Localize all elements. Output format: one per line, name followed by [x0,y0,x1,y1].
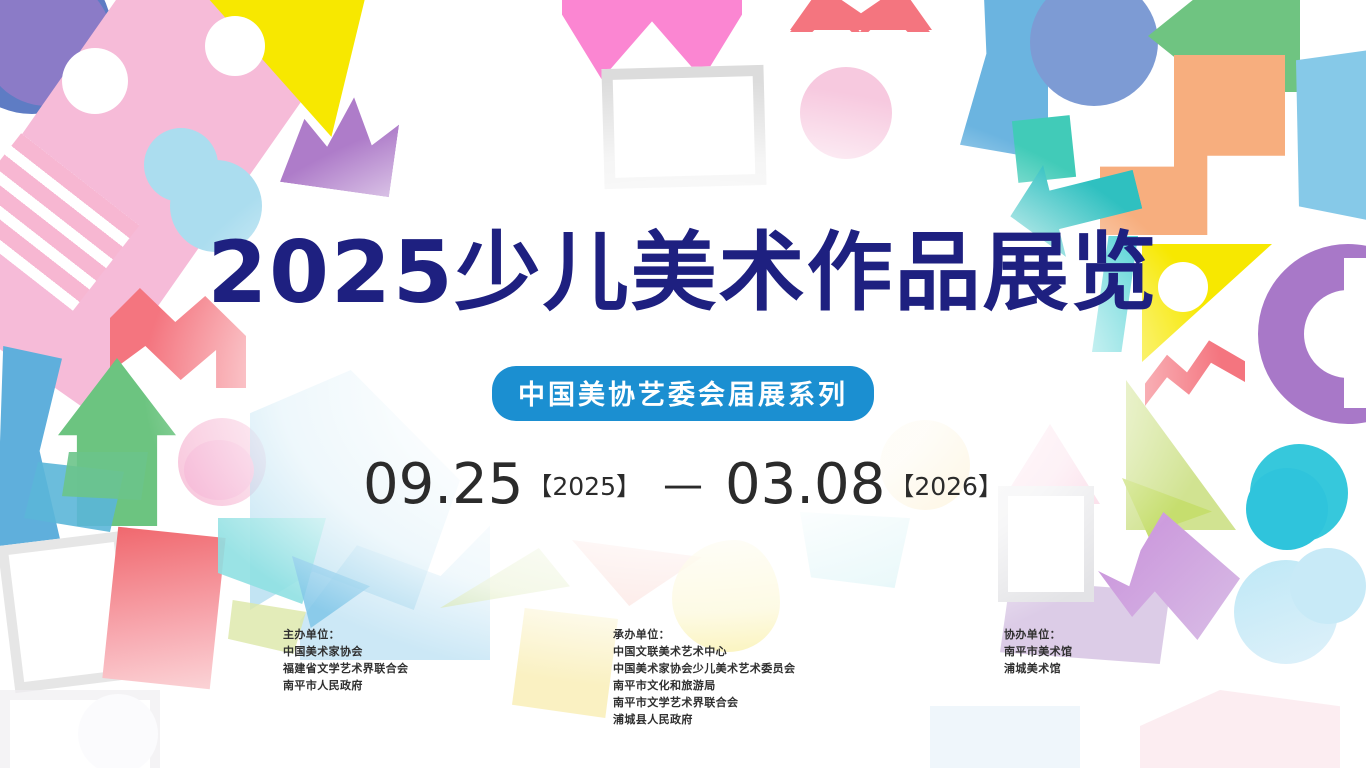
series-badge: 中国美协艺委会届展系列 [492,366,874,421]
page-title: 2025少儿美术作品展览 [0,228,1366,318]
credit-heading: 协办单位： [1004,626,1072,643]
credit-line: 南平市文化和旅游局 [613,677,795,694]
credit-line: 浦城县人民政府 [613,711,795,728]
credit-line: 南平市美术馆 [1004,643,1072,660]
credit-heading: 主办单位： [283,626,408,643]
credit-line: 中国美术家协会 [283,643,408,660]
end-year: 【2026】 [889,472,1003,501]
poster-content: 2025少儿美术作品展览 中国美协艺委会届展系列 09.25【2025】—03.… [0,0,1366,768]
credit-block-organizer: 承办单位： 中国文联美术艺术中心 中国美术家协会少儿美术艺术委员会 南平市文化和… [613,626,795,728]
end-date: 03.08 [725,452,885,517]
credit-line: 浦城美术馆 [1004,660,1072,677]
credit-block-host: 主办单位： 中国美术家协会 福建省文学艺术界联合会 南平市人民政府 [283,626,408,694]
credit-line: 南平市人民政府 [283,677,408,694]
credit-block-coorganizer: 协办单位： 南平市美术馆 浦城美术馆 [1004,626,1072,677]
start-year: 【2025】 [527,472,641,501]
date-separator: — [663,462,703,508]
exhibition-date-range: 09.25【2025】—03.08【2026】 [0,452,1366,517]
credit-line: 中国文联美术艺术中心 [613,643,795,660]
exhibition-poster: 2025少儿美术作品展览 中国美协艺委会届展系列 09.25【2025】—03.… [0,0,1366,768]
credit-line: 南平市文学艺术界联合会 [613,694,795,711]
credit-heading: 承办单位： [613,626,795,643]
credit-line: 福建省文学艺术界联合会 [283,660,408,677]
start-date: 09.25 [363,452,523,517]
series-badge-container: 中国美协艺委会届展系列 [0,366,1366,421]
credit-line: 中国美术家协会少儿美术艺术委员会 [613,660,795,677]
